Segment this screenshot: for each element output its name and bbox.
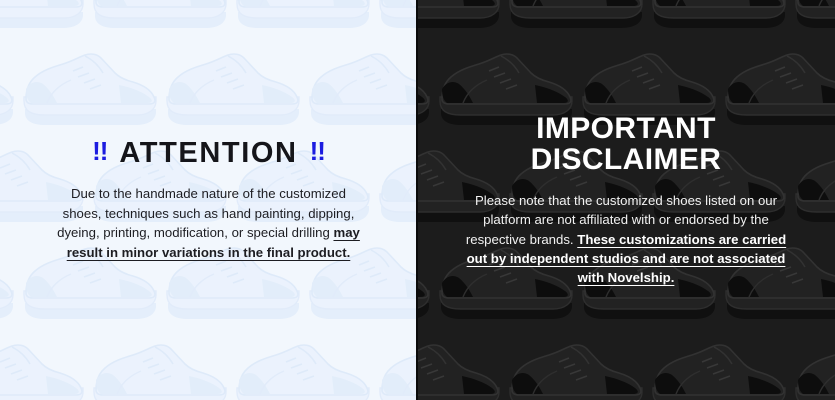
- attention-heading: !!ATTENTION!!: [26, 138, 391, 168]
- customization-notice-banner: !!ATTENTION!! Due to the handmade nature…: [0, 0, 835, 400]
- attention-panel: !!ATTENTION!! Due to the handmade nature…: [0, 0, 417, 400]
- disclaimer-content: IMPORTANT DISCLAIMER Please note that th…: [417, 113, 835, 288]
- attention-heading-text: ATTENTION: [119, 137, 297, 169]
- attention-body-normal: Due to the handmade nature of the custom…: [57, 186, 354, 240]
- disclaimer-panel: IMPORTANT DISCLAIMER Please note that th…: [417, 0, 835, 400]
- disclaimer-heading: IMPORTANT DISCLAIMER: [443, 113, 809, 177]
- attention-content: !!ATTENTION!! Due to the handmade nature…: [0, 138, 417, 262]
- double-exclamation-icon-right: !!: [310, 136, 325, 166]
- disclaimer-heading-line2: DISCLAIMER: [443, 144, 809, 176]
- attention-body: Due to the handmade nature of the custom…: [54, 184, 364, 262]
- disclaimer-body: Please note that the customized shoes li…: [461, 191, 791, 287]
- panel-divider: [416, 0, 418, 400]
- double-exclamation-icon-left: !!: [92, 136, 107, 166]
- disclaimer-heading-line1: IMPORTANT: [443, 113, 809, 145]
